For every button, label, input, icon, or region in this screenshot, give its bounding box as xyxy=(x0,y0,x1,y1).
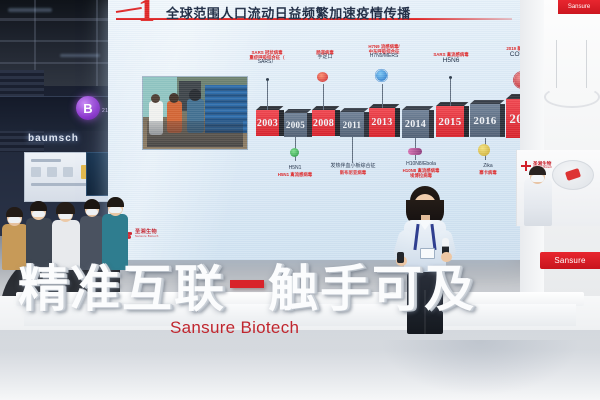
leader-line-2008 xyxy=(323,84,324,110)
hanging-ring-fixture xyxy=(544,86,600,108)
timeline-block-2016: 2016 xyxy=(470,104,500,137)
booth-staff-face-mask xyxy=(531,175,544,182)
timeline-year-2011: 2011 xyxy=(340,112,364,137)
booth-staff-body xyxy=(524,178,552,226)
banner-text-right: 触手可及 xyxy=(268,264,476,314)
booth-top-sign: Sansure xyxy=(558,0,600,14)
timeline-label-2005: H5N1 H5N1 禽流感病毒 xyxy=(263,166,327,177)
banner-dash-icon xyxy=(230,280,264,288)
timeline-label-2019: 2019 新型冠状病毒 COVID-19 xyxy=(488,46,520,59)
germ-icon-hfmd xyxy=(317,72,328,82)
germ-icon-ebola xyxy=(408,148,422,155)
germ-icon-h7n9 xyxy=(376,70,387,81)
booth-logo-glyph: B xyxy=(76,96,100,120)
slide-title: 全球范围人口流动日益频繁加速疫情传播 xyxy=(166,3,411,22)
leader-line-2015 xyxy=(450,78,451,106)
timeline-block-2011: 2011 xyxy=(340,112,364,137)
timeline-label-2016: Zika 寨卡病毒 xyxy=(460,164,516,175)
timeline-year-2015: 2015 xyxy=(436,106,464,137)
timeline-year-2013: 2013 xyxy=(369,108,395,137)
timeline-year-2014: 2014 xyxy=(402,110,429,138)
booth-staff-hair xyxy=(529,166,546,175)
timeline-block-2014: 2014 xyxy=(402,110,429,138)
timeline-block-2015: 2015 xyxy=(436,106,464,137)
timeline-block-2013: 2013 xyxy=(369,108,395,137)
timeline-label-2008: 肠道病毒 手足口 xyxy=(296,50,354,61)
timeline-year-2003: 2003 xyxy=(256,110,279,136)
booth-counter-sign: Sansure xyxy=(540,252,600,269)
leader-dot-2003 xyxy=(266,78,269,81)
timeline-label-2013: H7N9 流感病毒/ 中东呼吸综合征 H7N9/MERS xyxy=(348,44,420,60)
neighbour-booth-logo-icon: B xyxy=(76,96,100,120)
timeline-year-2019: 2019 xyxy=(506,99,520,138)
germ-icon-zika xyxy=(478,144,490,156)
timeline-block-2008: 2008 xyxy=(312,110,335,136)
timeline-year-2016: 2016 xyxy=(470,104,500,137)
leader-line-2013 xyxy=(382,84,383,108)
timeline-year-2005: 2005 xyxy=(284,113,307,137)
timeline-label-2014: H10N8/Ebola H10N8 禽流感病毒 埃博拉病毒 xyxy=(384,162,458,178)
leader-line-2011 xyxy=(352,137,353,163)
timeline-label-2015: SARS 禽流感病毒 H5N6 xyxy=(418,52,484,65)
stage-banner: 精准互联 触手可及 xyxy=(18,258,498,320)
leader-dot-2015 xyxy=(449,76,452,79)
timeline-label-2011: 发热伴血小板综合征 新布尼亚病毒 xyxy=(320,164,386,175)
slide-photo xyxy=(142,76,248,150)
photo-motorbikes xyxy=(147,121,243,147)
floor-reflection xyxy=(380,340,580,396)
germ-icon-h5n1 xyxy=(290,148,299,157)
booth-counter-sign-text: Sansure xyxy=(554,256,585,265)
timeline-block-2003: 2003 xyxy=(256,110,279,136)
banner-text-left: 精准互联 xyxy=(18,264,226,314)
booth-top-sign-text: Sansure xyxy=(568,4,590,10)
exhibition-scene: B 21SJ baumsch 1 全球范围人口流动日益频繁加速疫情传播 xyxy=(0,0,600,400)
timeline-block-2019: 2019 xyxy=(506,99,520,138)
ceiling-wire-right xyxy=(586,40,587,88)
booth-wordmark: baumsch xyxy=(28,133,79,144)
banner-english-text: Sansure Biotech xyxy=(170,318,299,338)
ceiling-wire-left xyxy=(556,40,557,88)
timeline-year-2008: 2008 xyxy=(312,110,335,136)
timeline-block-2005: 2005 xyxy=(284,113,307,137)
slide-section-number: 1 xyxy=(138,0,155,28)
leader-line-2003 xyxy=(267,80,268,110)
